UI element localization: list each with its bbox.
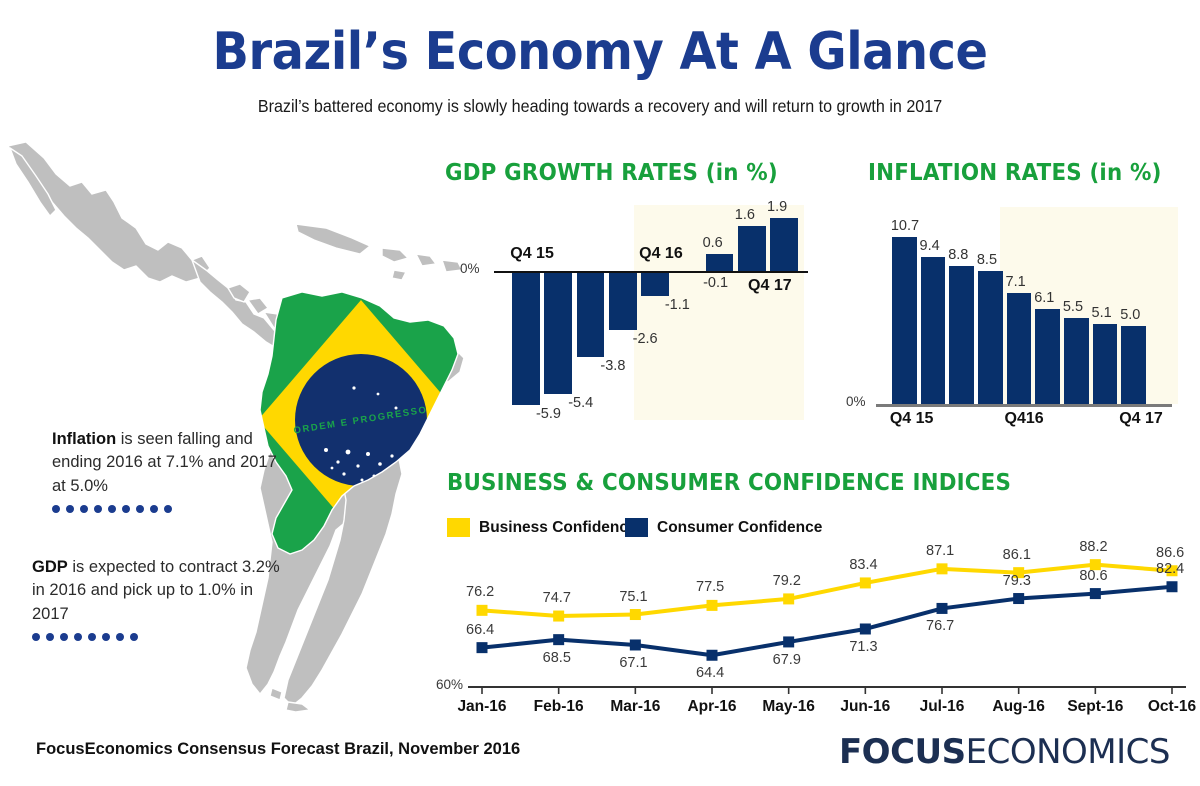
confidence-marker <box>707 600 718 611</box>
confidence-marker <box>1013 593 1024 604</box>
confidence-marker <box>1167 581 1178 592</box>
gdp-bar-value: -5.9 <box>536 406 561 422</box>
gdp-axis-label: Q4 16 <box>639 245 683 263</box>
gdp-note-dots <box>32 633 282 641</box>
confidence-marker <box>553 634 564 645</box>
confidence-point-value: 80.6 <box>1079 568 1107 584</box>
confidence-marker <box>860 577 871 588</box>
confidence-point-value: 76.2 <box>466 584 494 600</box>
gdp-bar-value: -0.1 <box>703 275 728 291</box>
confidence-chart-title: BUSINESS & CONSUMER CONFIDENCE INDICES <box>447 470 1011 496</box>
confidence-marker <box>860 623 871 634</box>
gdp-bar-value: -2.6 <box>633 331 658 347</box>
gdp-bar <box>544 271 572 394</box>
confidence-x-label: Aug-16 <box>987 698 1051 716</box>
inflation-zero-label: 0% <box>846 394 866 409</box>
inflation-bar <box>978 271 1003 404</box>
confidence-point-value: 67.1 <box>619 655 647 671</box>
logo-focus: FOCUS <box>839 732 966 772</box>
gdp-note: GDP is expected to contract 3.2% in 2016… <box>32 556 282 641</box>
legend-business: Business Confidence <box>447 518 637 537</box>
gdp-bar <box>641 271 669 296</box>
focus-economics-logo: FOCUSECONOMICS <box>839 732 1170 772</box>
gdp-bar <box>609 271 637 330</box>
confidence-x-label: Jun-16 <box>833 698 897 716</box>
confidence-point-value: 75.1 <box>619 589 647 605</box>
gdp-note-body: is expected to contract 3.2% in 2016 and… <box>32 558 280 623</box>
inflation-bar <box>1007 293 1032 404</box>
infographic-canvas: Brazil’s Economy At A Glance Brazil’s ba… <box>0 0 1200 786</box>
confidence-point-value: 86.1 <box>1003 547 1031 563</box>
inflation-bar <box>949 266 974 404</box>
gdp-zero-axis <box>494 271 808 273</box>
confidence-marker <box>783 636 794 647</box>
inflation-bar-value: 5.0 <box>1120 307 1140 323</box>
confidence-marker <box>477 642 488 653</box>
confidence-point-value: 64.4 <box>696 665 724 681</box>
inflation-bar <box>1035 309 1060 404</box>
inflation-bar-value: 5.1 <box>1092 305 1112 321</box>
legend-swatch-business <box>447 518 470 537</box>
confidence-marker <box>630 639 641 650</box>
gdp-bar <box>577 271 605 357</box>
inflation-note: Inflation is seen falling and ending 201… <box>52 428 282 513</box>
inflation-bar <box>1121 326 1146 404</box>
confidence-point-value: 79.3 <box>1003 573 1031 589</box>
confidence-x-label: Oct-16 <box>1140 698 1200 716</box>
confidence-marker <box>630 609 641 620</box>
confidence-point-value: 74.7 <box>543 590 571 606</box>
gdp-bar-value: 1.6 <box>735 207 755 223</box>
confidence-marker <box>477 605 488 616</box>
confidence-x-label: Jan-16 <box>450 698 514 716</box>
confidence-point-value: 82.4 <box>1156 561 1184 577</box>
gdp-bar <box>738 226 766 271</box>
inflation-zero-axis <box>876 404 1172 407</box>
confidence-x-label: Apr-16 <box>680 698 744 716</box>
gdp-axis-label: Q4 17 <box>748 277 792 295</box>
confidence-x-label: Feb-16 <box>527 698 591 716</box>
confidence-x-label: May-16 <box>757 698 821 716</box>
inflation-axis-label: Q4 17 <box>1119 410 1163 428</box>
confidence-point-value: 79.2 <box>773 573 801 589</box>
inflation-axis-label: Q416 <box>1005 410 1044 428</box>
footer-source: FocusEconomics Consensus Forecast Brazil… <box>36 740 520 759</box>
gdp-bar-value: -5.4 <box>568 395 593 411</box>
gdp-growth-chart: -5.9-5.4-3.8-2.6-1.1-0.10.61.61.90%Q4 15… <box>440 195 810 430</box>
logo-economics: ECONOMICS <box>966 732 1170 772</box>
inflation-bar-value: 8.5 <box>977 252 997 268</box>
confidence-line <box>482 587 1172 656</box>
confidence-plot <box>430 540 1190 710</box>
gdp-bar <box>770 218 798 271</box>
confidence-line <box>482 565 1172 616</box>
gdp-bar-value: -1.1 <box>665 297 690 313</box>
legend-swatch-consumer <box>625 518 648 537</box>
gdp-note-lead: GDP <box>32 558 68 576</box>
gdp-bar <box>512 271 540 405</box>
confidence-y-label: 60% <box>436 677 463 692</box>
confidence-point-value: 71.3 <box>849 639 877 655</box>
inflation-note-dots <box>52 505 282 513</box>
gdp-bar <box>706 254 734 271</box>
confidence-point-value: 83.4 <box>849 557 877 573</box>
inflation-bar-value: 7.1 <box>1006 274 1026 290</box>
confidence-marker <box>937 563 948 574</box>
gdp-bar-value: 1.9 <box>767 199 787 215</box>
inflation-bar <box>1093 324 1118 404</box>
inflation-bar <box>1064 318 1089 404</box>
confidence-point-value: 66.4 <box>466 622 494 638</box>
confidence-point-value: 68.5 <box>543 650 571 666</box>
confidence-point-value: 87.1 <box>926 543 954 559</box>
confidence-point-value: 67.9 <box>773 652 801 668</box>
gdp-zero-label: 0% <box>460 261 480 276</box>
legend-consumer: Consumer Confidence <box>625 518 822 537</box>
confidence-x-label: Jul-16 <box>910 698 974 716</box>
page-title: Brazil’s Economy At A Glance <box>48 26 1152 78</box>
inflation-bar-value: 10.7 <box>891 218 919 234</box>
inflation-bar-value: 5.5 <box>1063 299 1083 315</box>
confidence-marker <box>1090 588 1101 599</box>
inflation-note-text: Inflation is seen falling and ending 201… <box>52 428 282 498</box>
inflation-bar <box>921 257 946 404</box>
inflation-note-lead: Inflation <box>52 430 116 448</box>
legend-label-business: Business Confidence <box>479 519 637 537</box>
gdp-axis-label: Q4 15 <box>510 245 554 263</box>
confidence-indices-chart: 76.274.775.177.579.283.487.186.188.286.6… <box>430 540 1190 710</box>
page-subtitle: Brazil’s battered economy is slowly head… <box>48 96 1152 117</box>
inflation-bar-value: 8.8 <box>948 247 968 263</box>
confidence-point-value: 86.6 <box>1156 545 1184 561</box>
confidence-point-value: 76.7 <box>926 618 954 634</box>
confidence-marker <box>553 611 564 622</box>
gdp-bar-value: 0.6 <box>703 235 723 251</box>
gdp-chart-title: GDP GROWTH RATES (in %) <box>445 160 778 186</box>
gdp-bar-value: -3.8 <box>600 358 625 374</box>
inflation-axis-label: Q4 15 <box>890 410 934 428</box>
inflation-bar <box>892 237 917 404</box>
inflation-bar-value: 6.1 <box>1034 290 1054 306</box>
confidence-x-label: Sept-16 <box>1063 698 1127 716</box>
confidence-point-value: 77.5 <box>696 579 724 595</box>
legend-label-consumer: Consumer Confidence <box>657 519 822 537</box>
confidence-marker <box>707 650 718 661</box>
confidence-marker <box>937 603 948 614</box>
inflation-rates-chart: 10.79.48.88.57.16.15.55.15.00%Q4 15Q416Q… <box>838 195 1190 430</box>
inflation-bar-value: 9.4 <box>920 238 940 254</box>
confidence-marker <box>783 593 794 604</box>
inflation-chart-title: INFLATION RATES (in %) <box>868 160 1162 186</box>
confidence-point-value: 88.2 <box>1079 539 1107 555</box>
confidence-x-label: Mar-16 <box>603 698 667 716</box>
gdp-note-text: GDP is expected to contract 3.2% in 2016… <box>32 556 282 626</box>
